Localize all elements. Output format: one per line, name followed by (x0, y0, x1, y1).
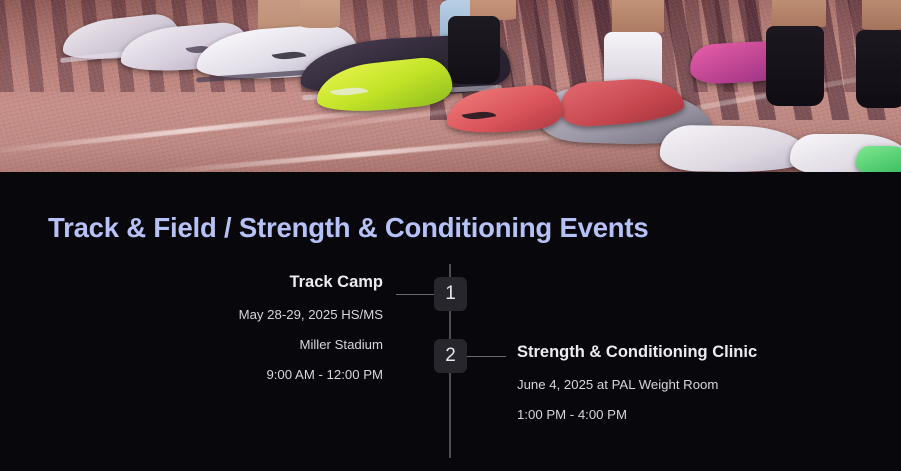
hero-photo-track-shoes (0, 0, 901, 172)
event-card-1[interactable]: Track Camp May 28-29, 2025 HS/MS Miller … (63, 272, 383, 383)
athlete-leg (300, 0, 340, 28)
events-timeline: 1 Track Camp May 28-29, 2025 HS/MS Mille… (0, 172, 901, 471)
timeline-connector-1 (396, 294, 436, 295)
athlete-leg (862, 0, 901, 30)
event-title: Strength & Conditioning Clinic (517, 342, 877, 362)
event-date: May 28-29, 2025 HS/MS (63, 306, 383, 323)
running-shoe (856, 146, 901, 172)
event-time: 9:00 AM - 12:00 PM (63, 366, 383, 383)
athlete-leg (772, 0, 826, 28)
page-root: Track & Field / Strength & Conditioning … (0, 0, 901, 471)
athlete-sock (448, 16, 500, 84)
athlete-leg (612, 0, 664, 34)
event-title: Track Camp (63, 272, 383, 292)
event-date-location: June 4, 2025 at PAL Weight Room (517, 376, 877, 393)
timeline-connector-2 (466, 356, 506, 357)
athlete-sock (856, 30, 901, 108)
timeline-step-badge-2[interactable]: 2 (434, 339, 467, 373)
event-time: 1:00 PM - 4:00 PM (517, 406, 877, 423)
athlete-sock (766, 26, 824, 106)
event-location: Miller Stadium (63, 336, 383, 353)
timeline-step-badge-1[interactable]: 1 (434, 277, 467, 311)
event-card-2[interactable]: Strength & Conditioning Clinic June 4, 2… (517, 342, 877, 423)
events-section: Track & Field / Strength & Conditioning … (0, 172, 901, 471)
